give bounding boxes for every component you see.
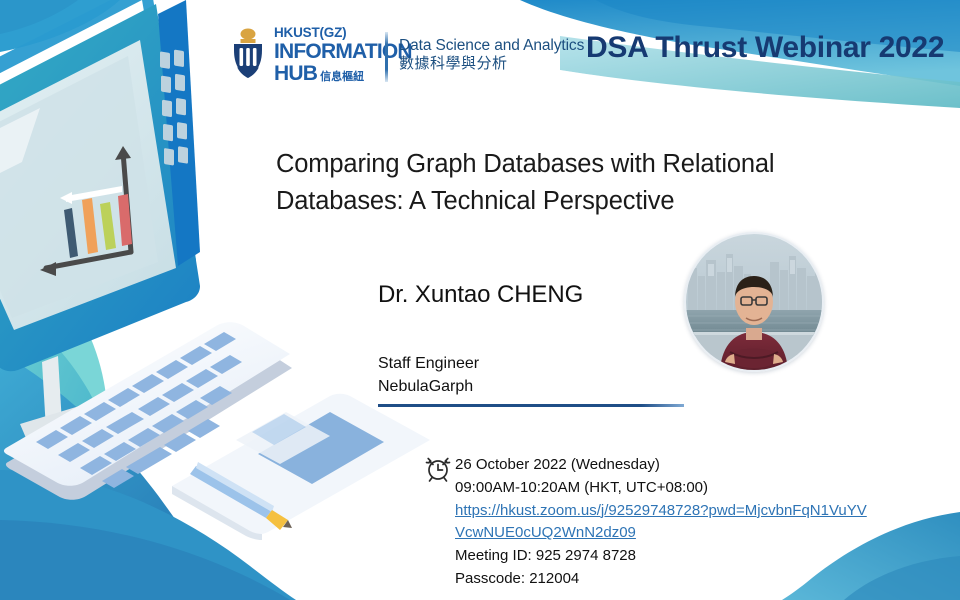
logo-wordmark: HKUST(GZ) INFORMATION HUB 信息樞紐 xyxy=(274,26,412,84)
speaker-job-title: Staff Engineer xyxy=(378,352,479,375)
isometric-keyboard-illustration xyxy=(4,322,292,500)
chart-bars-icon xyxy=(64,194,132,258)
talk-title: Comparing Graph Databases with Relationa… xyxy=(276,146,846,221)
webinar-series-title: DSA Thrust Webinar 2022 xyxy=(586,31,944,65)
logo-hub-chinese: 信息樞紐 xyxy=(320,72,364,83)
wave-top-left-icon xyxy=(0,0,120,52)
event-details: 26 October 2022 (Wednesday) 09:00AM-10:2… xyxy=(455,454,885,591)
logo-line-hkust: HKUST(GZ) xyxy=(274,26,412,40)
logo-hub-text: HUB xyxy=(274,63,317,84)
speaker-organization: NebulaGarph xyxy=(378,375,479,398)
isometric-monitor-chart-illustration xyxy=(0,0,200,438)
event-date: 26 October 2022 (Wednesday) xyxy=(455,454,885,477)
header-divider xyxy=(385,32,388,82)
event-time: 09:00AM-10:20AM (HKT, UTC+08:00) xyxy=(455,477,885,500)
speaker-affiliation: Staff Engineer NebulaGarph xyxy=(378,352,479,398)
speaker-name: Dr. Xuntao CHENG xyxy=(378,281,583,309)
meeting-id: Meeting ID: 925 2974 8728 xyxy=(455,545,885,568)
logo-line-information: INFORMATION xyxy=(274,41,412,62)
section-rule xyxy=(378,404,684,407)
zoom-meeting-link[interactable]: https://hkust.zoom.us/j/92529748728?pwd=… xyxy=(455,500,870,546)
speaker-portrait-image xyxy=(686,234,822,370)
unit-name-english: Data Science and Analytics xyxy=(399,36,584,55)
isometric-notebook-pencil-illustration xyxy=(172,394,430,540)
avatar xyxy=(684,232,824,372)
webinar-poster: HKUST(GZ) INFORMATION HUB 信息樞紐 Data Scie… xyxy=(0,0,960,600)
unit-name-chinese: 數據科學與分析 xyxy=(399,55,584,74)
unit-name-block: Data Science and Analytics 數據科學與分析 xyxy=(399,36,584,74)
hkust-shield-icon xyxy=(228,27,268,83)
chart-axes-icon xyxy=(46,152,131,268)
meeting-passcode: Passcode: 212004 xyxy=(455,568,885,591)
paper-sheets-icon xyxy=(236,412,330,464)
alarm-clock-icon xyxy=(422,452,454,484)
logo-line-hub: HUB 信息樞紐 xyxy=(274,63,412,84)
